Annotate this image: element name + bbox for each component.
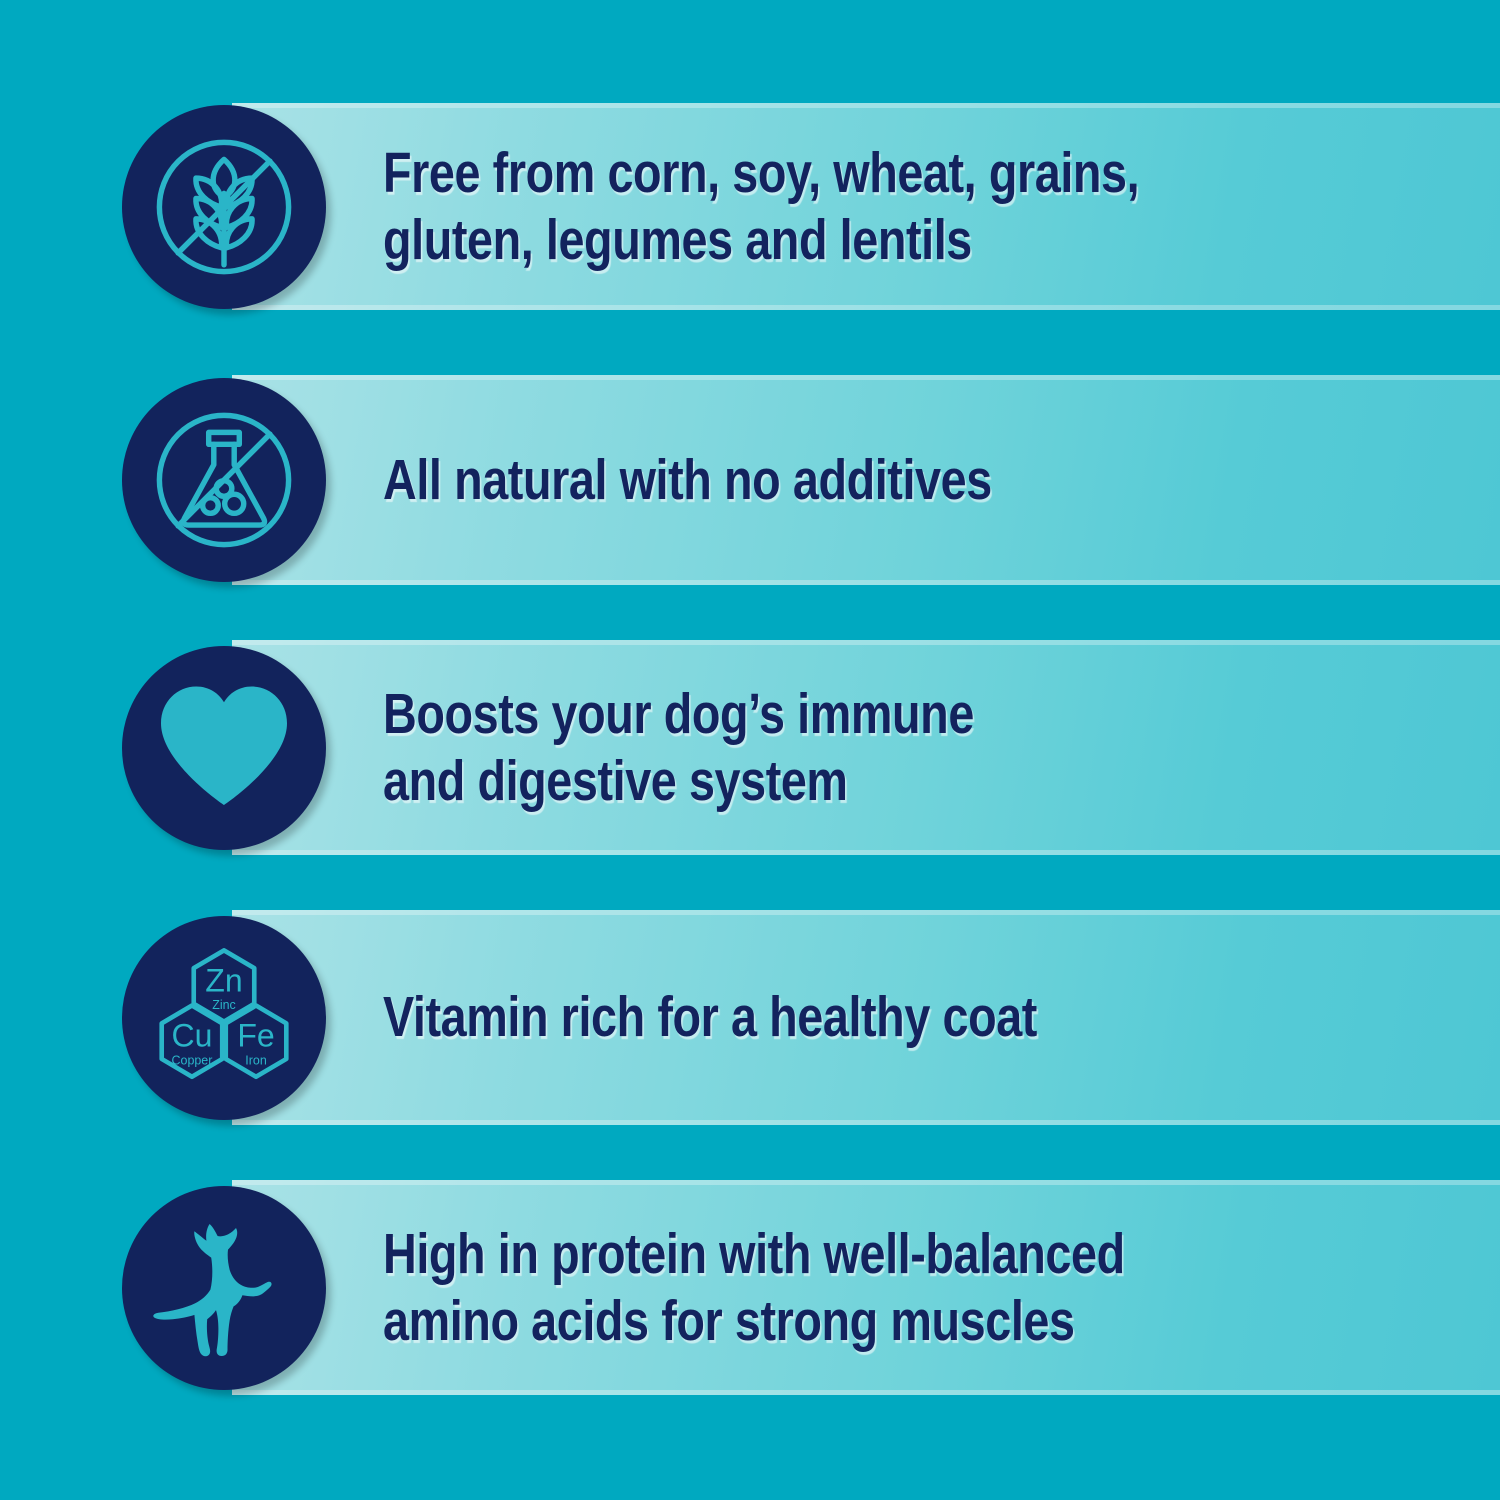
feature-row-vitamin-rich: Zn Zinc Cu Copper Fe Iron Vitamin rich f… — [0, 910, 1500, 1125]
feature-row-no-additives: All natural with no additives — [0, 375, 1500, 585]
heart-icon — [122, 646, 326, 850]
feature-row-grain-free: Free from corn, soy, wheat, grains, glut… — [0, 103, 1500, 310]
mineral-name-zinc: Zinc — [212, 998, 236, 1012]
feature-label-grain-free: Free from corn, soy, wheat, grains, glut… — [383, 140, 1299, 273]
dog-silhouette-icon — [122, 1186, 326, 1390]
feature-row-high-protein: High in protein with well-balanced amino… — [0, 1180, 1500, 1395]
feature-label-immune-digestive: Boosts your dog’s immune and digestive s… — [383, 681, 1299, 814]
feature-label-high-protein: High in protein with well-balanced amino… — [383, 1221, 1299, 1354]
no-chemicals-flask-icon — [122, 378, 326, 582]
no-grain-icon — [122, 105, 326, 309]
feature-row-immune-digestive: Boosts your dog’s immune and digestive s… — [0, 640, 1500, 855]
mineral-symbol-zn: Zn — [205, 962, 242, 998]
mineral-symbol-fe: Fe — [237, 1017, 274, 1053]
mineral-name-iron: Iron — [245, 1053, 267, 1067]
feature-label-vitamin-rich: Vitamin rich for a healthy coat — [383, 984, 1299, 1051]
mineral-symbol-cu: Cu — [171, 1017, 212, 1053]
feature-label-no-additives: All natural with no additives — [383, 447, 1299, 514]
benefits-infographic: Free from corn, soy, wheat, grains, glut… — [0, 0, 1500, 1500]
minerals-hexagon-icon: Zn Zinc Cu Copper Fe Iron — [122, 916, 326, 1120]
mineral-name-copper: Copper — [172, 1053, 213, 1067]
